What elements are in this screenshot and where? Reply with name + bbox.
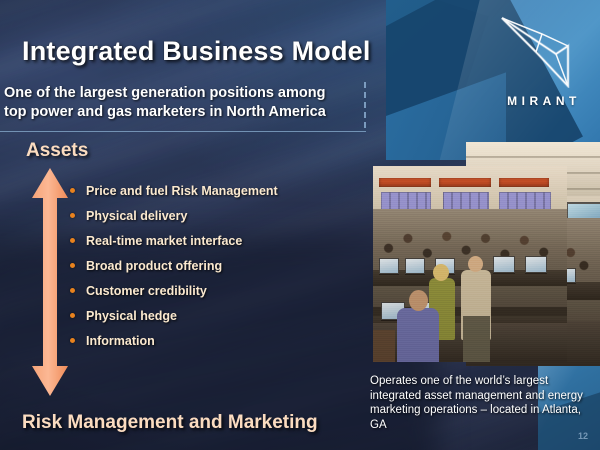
double-headed-vertical-arrow [30,168,70,396]
bullet-dot-icon [70,263,75,268]
list-item: Broad product offering [70,253,360,278]
slide-canvas: MIRANT Integrated Business Model One of … [0,0,600,450]
mirant-logo: MIRANT [498,16,594,112]
bullet-dot-icon [70,213,75,218]
bullet-label: Broad product offering [86,259,222,273]
trading-floor-photo [373,166,567,362]
bullet-label: Physical hedge [86,309,177,323]
list-item: Physical delivery [70,203,360,228]
bullet-dot-icon [70,238,75,243]
photo-caption: Operates one of the world’s largest inte… [370,374,596,432]
photo-grain [373,166,567,362]
bullet-dot-icon [70,288,75,293]
bullet-label: Customer credibility [86,284,207,298]
mirant-wordmark: MIRANT [494,94,594,108]
bullet-dot-icon [70,338,75,343]
list-item: Physical hedge [70,303,360,328]
slide-title: Integrated Business Model [22,36,371,67]
bullet-label: Price and fuel Risk Management [86,184,278,198]
bullet-dot-icon [70,313,75,318]
assets-label: Assets [26,140,88,162]
bullet-dot-icon [70,188,75,193]
risk-management-label: Risk Management and Marketing [22,412,318,434]
page-number: 12 [578,431,588,441]
bullet-label: Real-time market interface [86,234,242,248]
list-item: Information [70,328,360,353]
bullet-label: Physical delivery [86,209,187,223]
bullet-label: Information [86,334,155,348]
bullet-list: Price and fuel Risk Management Physical … [70,178,360,353]
subtitle-dashed-divider [364,82,366,128]
mirant-m-mark [498,16,586,88]
subtitle-underline [0,131,366,132]
list-item: Real-time market interface [70,228,360,253]
list-item: Price and fuel Risk Management [70,178,360,203]
list-item: Customer credibility [70,278,360,303]
slide-subtitle: One of the largest generation positions … [4,84,349,122]
